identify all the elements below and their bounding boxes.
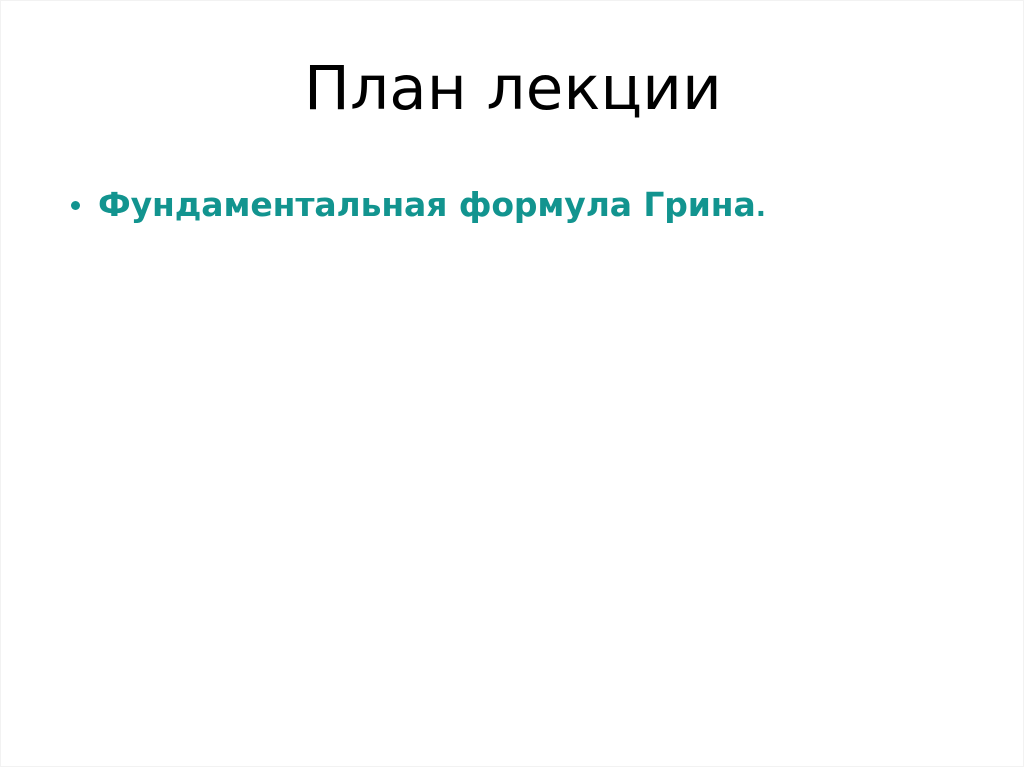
page-title: План лекции (1, 57, 1024, 121)
empty-content-area (1, 241, 1024, 766)
slide-canvas: План лекции Фундаментальная формула Грин… (0, 0, 1024, 767)
list-item: Фундаментальная формула Грина. (1, 183, 1024, 230)
bullet-list: Фундаментальная формула Грина. (1, 183, 1024, 230)
bullet-item-label: Фундаментальная формула Грина. (98, 183, 766, 230)
bullet-item-text: Фундаментальная формула Грина (98, 185, 756, 224)
bullet-dot-icon (38, 183, 80, 227)
bullet-item-period: . (756, 192, 766, 223)
